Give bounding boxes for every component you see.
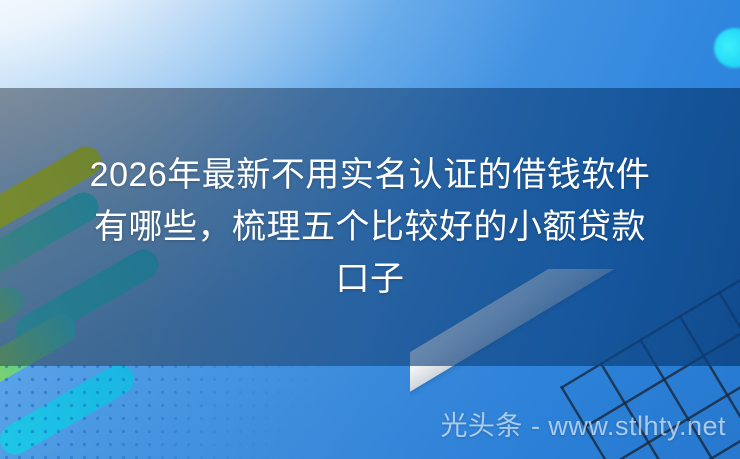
banner-image: 2026年最新不用实名认证的借钱软件 有哪些，梳理五个比较好的小额贷款 口子 光… xyxy=(0,0,740,459)
halftone-dots-decoration xyxy=(0,360,360,459)
site-watermark: 光头条 - www.stlhty.net xyxy=(440,404,726,443)
banner-title: 2026年最新不用实名认证的借钱软件 有哪些，梳理五个比较好的小额贷款 口子 xyxy=(0,88,740,366)
title-line-1: 2026年最新不用实名认证的借钱软件 xyxy=(90,149,651,201)
title-line-3: 口子 xyxy=(336,253,405,305)
title-line-2: 有哪些，梳理五个比较好的小额贷款 xyxy=(94,201,646,253)
